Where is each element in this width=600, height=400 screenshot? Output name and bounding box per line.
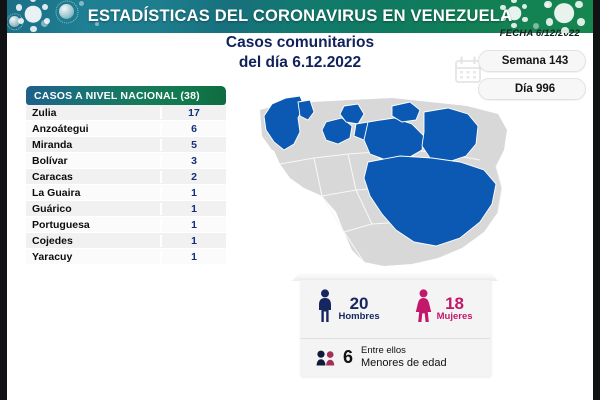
state-name: Zulia <box>26 107 160 119</box>
national-cases-table: CASOS A NIVEL NACIONAL (38) Zulia17Anzoá… <box>26 86 226 265</box>
male-figure-icon <box>317 289 333 328</box>
table-row: Portuguesa1 <box>26 217 226 233</box>
women-label: Mujeres <box>437 312 473 322</box>
state-case-count: 1 <box>160 187 226 199</box>
gender-stats-row: 20 Hombres 18 Mujeres <box>300 280 490 337</box>
female-figure-icon <box>415 289 432 328</box>
two-person-icon <box>316 350 335 366</box>
state-case-count: 1 <box>160 251 226 263</box>
table-row: La Guaira1 <box>26 185 226 201</box>
state-case-count: 5 <box>160 139 226 151</box>
badge-semana[interactable]: Semana 143 <box>478 50 586 72</box>
state-name: Portuguesa <box>26 219 160 231</box>
venezuela-map <box>252 92 512 270</box>
state-name: La Guaira <box>26 187 160 199</box>
state-name: Yaracuy <box>26 251 160 263</box>
minors-line-2: Menores de edad <box>361 357 447 369</box>
women-stat: 18 Mujeres <box>415 289 473 328</box>
infographic-canvas: ESTADÍSTICAS DEL CORONAVIRUS EN VENEZUEL… <box>0 0 600 400</box>
table-row: Miranda5 <box>26 137 226 153</box>
table-row: Anzoátegui6 <box>26 121 226 137</box>
table-row: Guárico1 <box>26 201 226 217</box>
table-row: Yaracuy1 <box>26 249 226 265</box>
subtitle: Casos comunitarios del día 6.12.2022 <box>150 33 450 73</box>
subtitle-line-2: del día 6.12.2022 <box>150 53 450 73</box>
state-case-count: 1 <box>160 203 226 215</box>
table-body: Zulia17Anzoátegui6Miranda5Bolívar3Caraca… <box>26 105 226 265</box>
state-case-count: 6 <box>160 123 226 135</box>
minors-stat-row: 6 Entre ellos Menores de edad <box>300 338 490 376</box>
state-name: Bolívar <box>26 155 160 167</box>
subtitle-line-1: Casos comunitarios <box>226 34 374 51</box>
table-row: Caracas2 <box>26 169 226 185</box>
state-case-count: 17 <box>160 107 226 119</box>
letterbox-right <box>593 0 600 400</box>
table-row: Bolívar3 <box>26 153 226 169</box>
women-count: 18 <box>437 295 473 313</box>
demographics-panel: 20 Hombres 18 Mujeres <box>300 272 490 376</box>
table-row: Cojedes1 <box>26 233 226 249</box>
state-name: Guárico <box>26 203 160 215</box>
state-case-count: 1 <box>160 219 226 231</box>
letterbox-left <box>0 0 7 400</box>
state-name: Caracas <box>26 171 160 183</box>
state-name: Cojedes <box>26 235 160 247</box>
men-count: 20 <box>338 295 379 313</box>
table-row: Zulia17 <box>26 105 226 121</box>
state-case-count: 2 <box>160 171 226 183</box>
table-header: CASOS A NIVEL NACIONAL (38) <box>26 86 226 105</box>
minors-count: 6 <box>343 347 353 368</box>
men-stat: 20 Hombres <box>317 289 379 328</box>
header-banner: ESTADÍSTICAS DEL CORONAVIRUS EN VENEZUEL… <box>7 0 593 33</box>
page-title: ESTADÍSTICAS DEL CORONAVIRUS EN VENEZUEL… <box>7 0 593 33</box>
men-label: Hombres <box>338 312 379 322</box>
minors-line-1: Entre ellos <box>361 346 447 356</box>
state-case-count: 1 <box>160 235 226 247</box>
state-name: Miranda <box>26 139 160 151</box>
state-case-count: 3 <box>160 155 226 167</box>
state-name: Anzoátegui <box>26 123 160 135</box>
